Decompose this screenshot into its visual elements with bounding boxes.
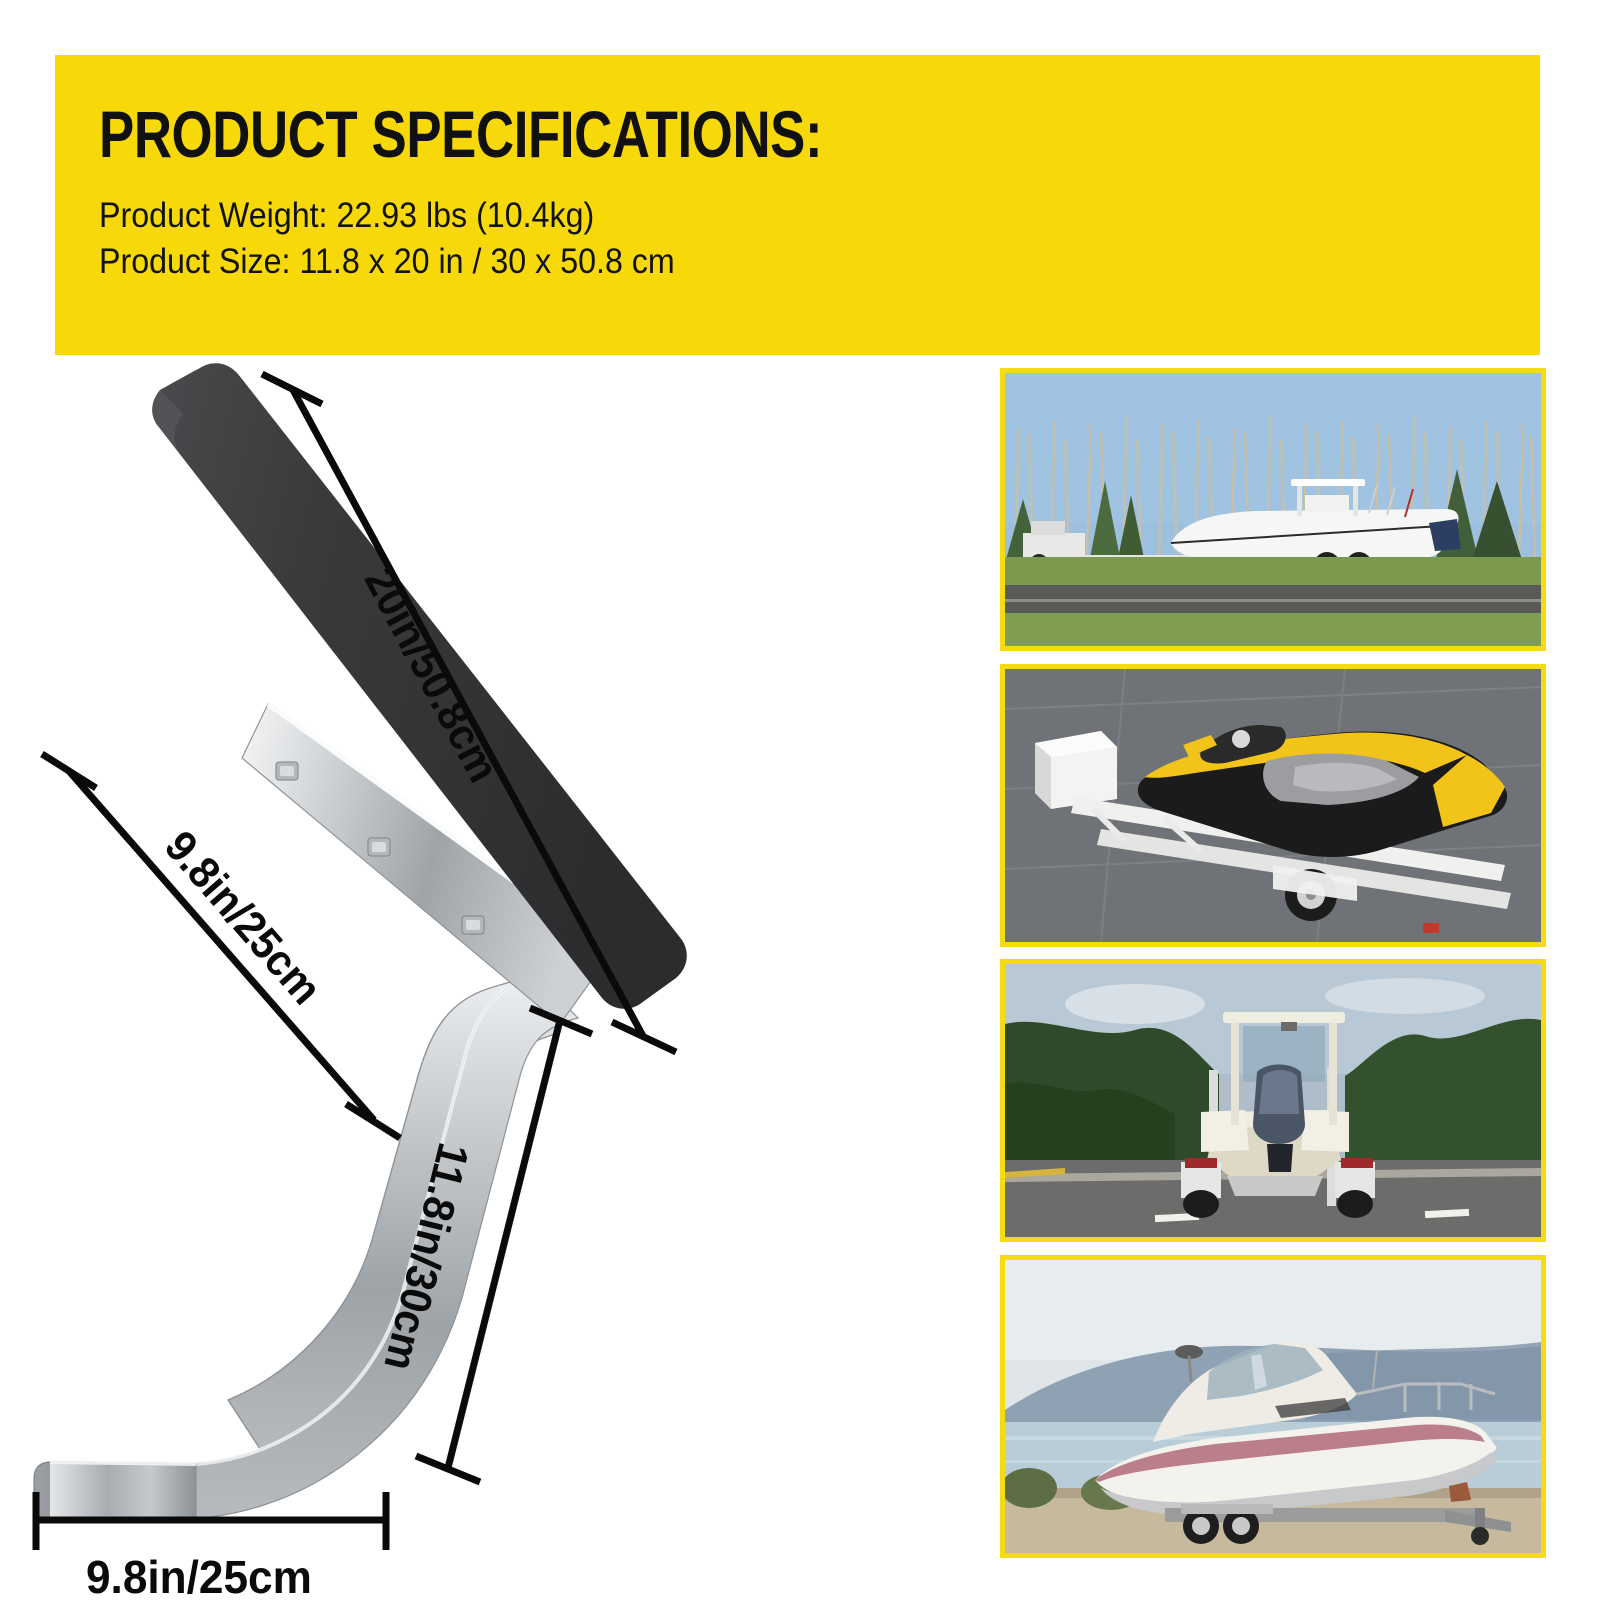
page-title: PRODUCT SPECIFICATIONS: [99,101,1252,167]
mounting-bolt [368,838,390,856]
photo-boat-towing-rear[interactable] [1000,959,1546,1242]
metal-bracket-foot [34,1462,196,1522]
product-specifications-banner: PRODUCT SPECIFICATIONS: Product Weight: … [55,55,1540,355]
photo-boat-roadside[interactable] [1000,368,1546,651]
photo-cabin-cruiser-lake-image [1005,1260,1541,1553]
spec-line-size: Product Size: 11.8 x 20 in / 30 x 50.8 c… [99,239,1425,285]
dimension-label-base-length: 9.8in/25cm [86,1550,312,1604]
photo-boat-roadside-image [1005,373,1541,646]
mounting-bolt [462,916,484,934]
product-illustration [0,360,960,1600]
product-photo-gallery [1000,368,1546,1558]
product-dimension-diagram: 20in/50.8cm 9.8in/25cm 11.8in/30cm 9.8in… [0,360,960,1600]
spec-line-weight: Product Weight: 22.93 lbs (10.4kg) [99,193,1425,239]
photo-boat-towing-rear-image [1005,964,1541,1237]
photo-cabin-cruiser-lake[interactable] [1000,1255,1546,1558]
photo-jetski-trailer-image [1005,669,1541,942]
photo-jetski-trailer[interactable] [1000,664,1546,947]
mounting-bolt [276,762,298,780]
